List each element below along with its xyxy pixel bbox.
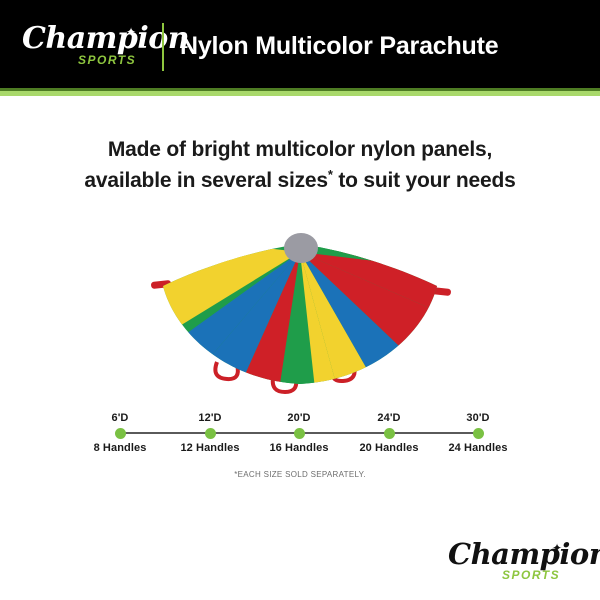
size-scale: 6'D 8 Handles 12'D 12 Handles 20'D 16 Ha…: [60, 412, 540, 460]
brand-star-icon: ✦: [552, 542, 562, 554]
scale-stop-30d[interactable]: 30'D 24 Handles: [432, 412, 524, 455]
scale-size-label: 20'D: [253, 412, 345, 425]
page-title: Nylon Multicolor Parachute: [180, 28, 580, 64]
scale-dot-icon: [115, 428, 126, 439]
headline-line-2-tail: to suit your needs: [333, 169, 516, 192]
scale-stop-12d[interactable]: 12'D 12 Handles: [164, 412, 256, 455]
panel-green-top-right: [300, 222, 465, 252]
scale-handles-label: 20 Handles: [343, 442, 435, 455]
brand-script-text: Champion: [22, 24, 189, 54]
parachute-svg: [145, 222, 465, 402]
headline-line-1: Made of bright multicolor nylon panels,: [0, 134, 600, 165]
scale-handles-label: 12 Handles: [164, 442, 256, 455]
scale-stop-24d[interactable]: 24'D 20 Handles: [343, 412, 435, 455]
scale-size-label: 6'D: [74, 412, 166, 425]
scale-stop-20d[interactable]: 20'D 16 Handles: [253, 412, 345, 455]
header-bar: Champion ✦ SPORTS Nylon Multicolor Parac…: [0, 0, 600, 88]
headline-line-2: available in several sizes* to suit your…: [0, 165, 600, 196]
scale-dot-icon: [473, 428, 484, 439]
footer-brand-logo: Champion ✦ SPORTS: [448, 538, 580, 586]
scale-stop-6d[interactable]: 6'D 8 Handles: [74, 412, 166, 455]
scale-size-label: 24'D: [343, 412, 435, 425]
header-brand-logo: Champion ✦ SPORTS: [22, 22, 154, 72]
header-rule-light: [0, 91, 600, 96]
scale-size-label: 12'D: [164, 412, 256, 425]
brand-star-icon: ✦: [126, 26, 136, 38]
header-divider: [162, 23, 164, 71]
brand-sports-text: SPORTS: [502, 568, 560, 582]
scale-handles-label: 24 Handles: [432, 442, 524, 455]
footnote: *EACH SIZE SOLD SEPARATELY.: [0, 470, 600, 479]
parachute-product-image: [145, 222, 465, 402]
scale-dot-icon: [294, 428, 305, 439]
headline-line-2-text: available in several sizes: [84, 169, 327, 192]
parachute-center-hub: [284, 233, 318, 263]
scale-dot-icon: [205, 428, 216, 439]
brand-sports-text: SPORTS: [78, 53, 136, 67]
scale-dot-icon: [384, 428, 395, 439]
brand-script-text: Champion: [448, 540, 600, 569]
scale-size-label: 30'D: [432, 412, 524, 425]
scale-handles-label: 8 Handles: [74, 442, 166, 455]
headline: Made of bright multicolor nylon panels, …: [0, 134, 600, 196]
scale-handles-label: 16 Handles: [253, 442, 345, 455]
